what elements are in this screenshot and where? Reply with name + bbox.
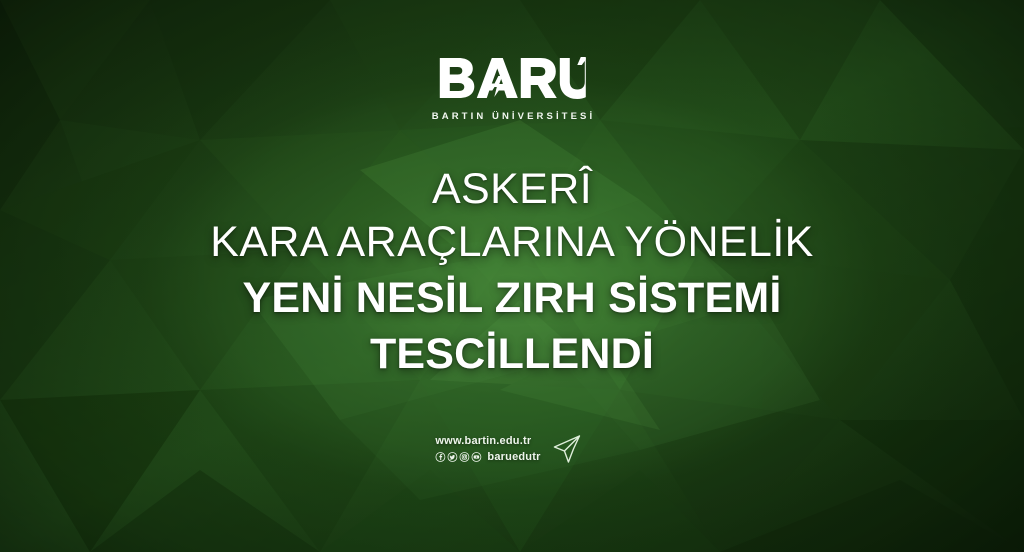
footer-block: www.bartin.edu.tr <box>435 428 588 469</box>
headline-line-4: TESCİLLENDİ <box>0 326 1024 382</box>
social-row: baruedutr <box>435 450 540 464</box>
poster-canvas: BARTIN ÜNİVERSİTESİ ASKERÎ KARA ARAÇLARI… <box>0 0 1024 552</box>
baru-logo: BARTIN ÜNİVERSİTESİ <box>429 56 595 122</box>
headline-line-1: ASKERÎ <box>0 163 1024 215</box>
social-handle[interactable]: baruedutr <box>487 450 540 464</box>
twitter-icon[interactable] <box>447 452 457 462</box>
website-url[interactable]: www.bartin.edu.tr <box>435 434 531 449</box>
headline-line-3: YENİ NESİL ZIRH SİSTEMİ <box>0 270 1024 326</box>
logo-subtitle: BARTIN ÜNİVERSİTESİ <box>429 111 595 122</box>
poster-content: BARTIN ÜNİVERSİTESİ ASKERÎ KARA ARAÇLARI… <box>0 0 1024 552</box>
facebook-icon[interactable] <box>435 452 445 462</box>
baru-wordmark-icon <box>438 56 586 104</box>
youtube-icon[interactable] <box>471 452 481 462</box>
headline-block: ASKERÎ KARA ARAÇLARINA YÖNELİK YENİ NESİ… <box>0 163 1024 382</box>
instagram-icon[interactable] <box>459 452 469 462</box>
footer-text-group: www.bartin.edu.tr <box>435 434 540 464</box>
headline-line-2: KARA ARAÇLARINA YÖNELİK <box>0 215 1024 269</box>
paper-plane-icon <box>549 429 589 469</box>
